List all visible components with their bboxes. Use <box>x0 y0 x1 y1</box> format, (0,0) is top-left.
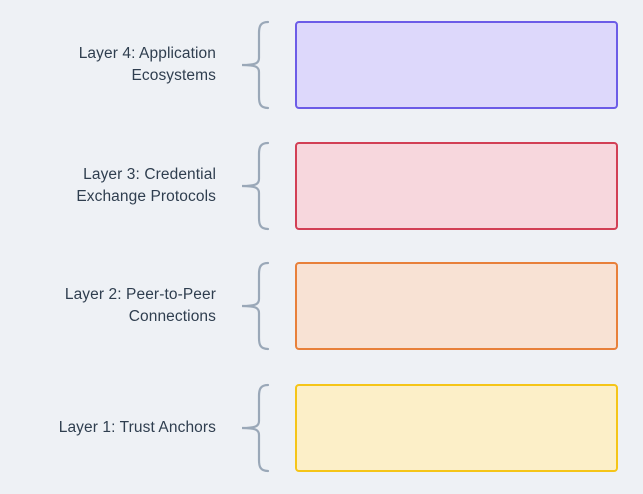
curly-brace-icon <box>228 20 282 110</box>
layer-box-4[interactable] <box>295 21 618 109</box>
layer-box-2[interactable] <box>295 262 618 350</box>
layer-label-3: Layer 3: Credential Exchange Protocols <box>0 164 216 208</box>
layer-label-2: Layer 2: Peer-to-Peer Connections <box>0 284 216 328</box>
curly-brace-icon <box>228 261 282 351</box>
curly-brace-icon <box>228 383 282 473</box>
layer-stack-diagram: Layer 4: Application Ecosystems Layer 3:… <box>0 0 643 494</box>
layer-box-1[interactable] <box>295 384 618 472</box>
layer-label-4: Layer 4: Application Ecosystems <box>0 43 216 87</box>
layer-box-3[interactable] <box>295 142 618 230</box>
layer-label-1: Layer 1: Trust Anchors <box>0 417 216 439</box>
curly-brace-icon <box>228 141 282 231</box>
